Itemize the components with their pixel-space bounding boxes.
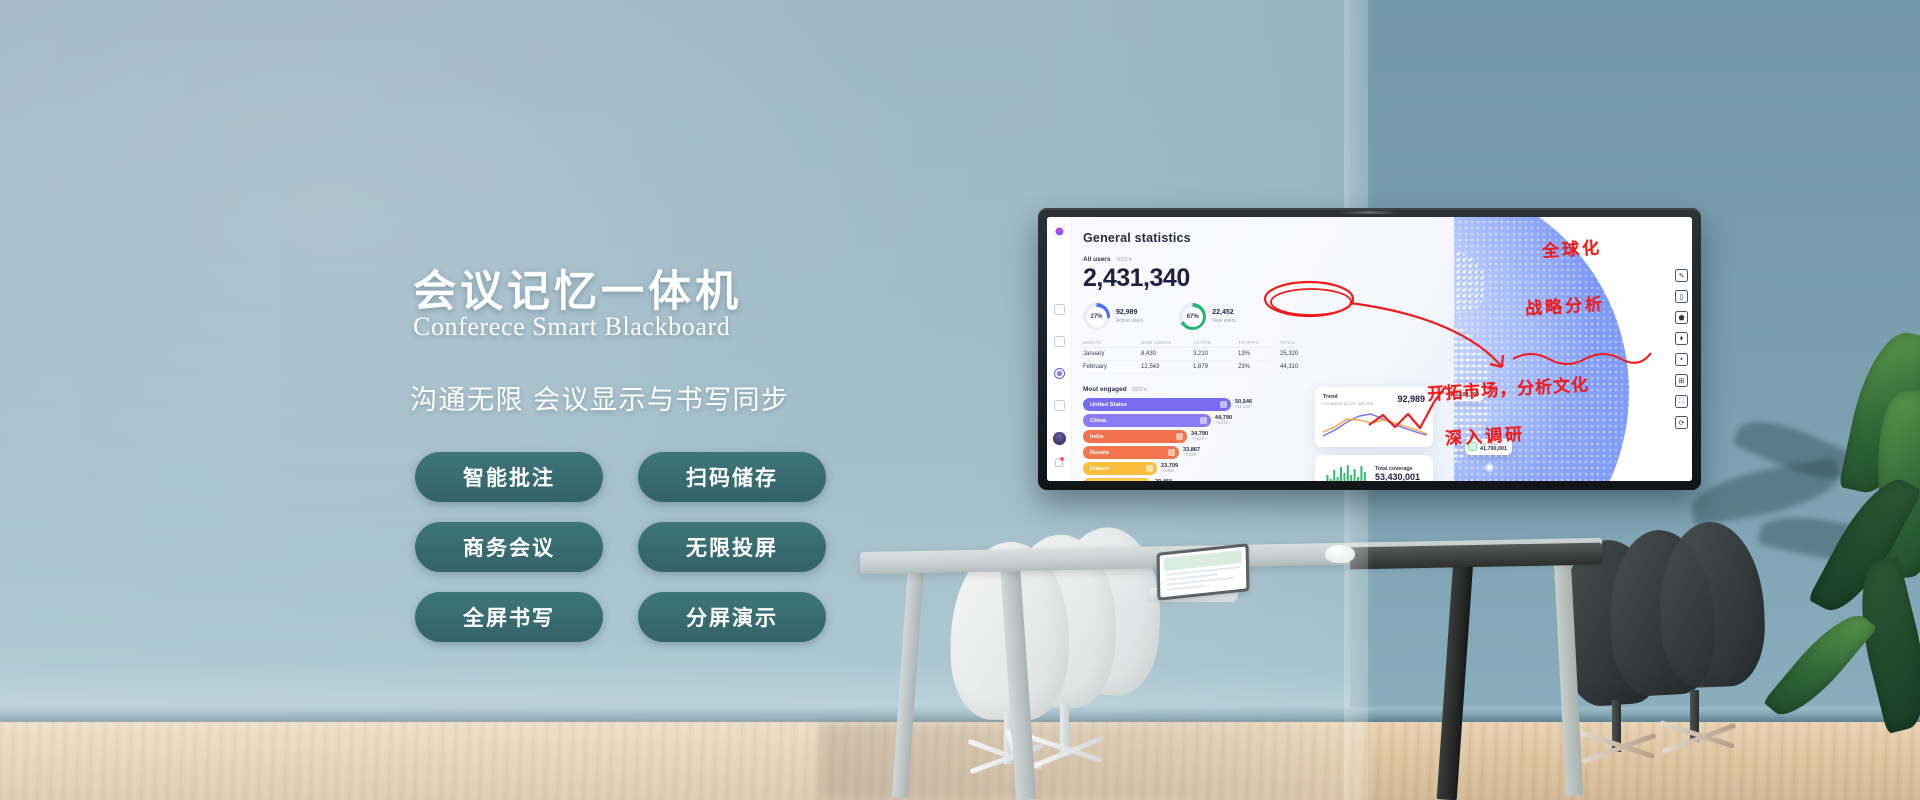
cell: 23% bbox=[1238, 364, 1280, 370]
card-value: 92,989 bbox=[1397, 394, 1425, 404]
sidebar-item-billing-icon[interactable] bbox=[1054, 400, 1065, 411]
flag-icon bbox=[1168, 449, 1175, 456]
column-header: MONTH bbox=[1083, 340, 1141, 345]
donut-stats: 27% 92,989 Active users 67% 22,452 bbox=[1083, 303, 1446, 330]
donut-percent: 27% bbox=[1090, 314, 1102, 320]
sidebar-item-analytics-icon[interactable] bbox=[1054, 336, 1065, 347]
stat-label: New users bbox=[1212, 318, 1236, 324]
page-title: 会议记忆一体机 bbox=[413, 257, 742, 319]
country-label: India bbox=[1090, 434, 1104, 440]
eraser-tool-icon[interactable]: ▯ bbox=[1675, 290, 1688, 303]
page-title: General statistics bbox=[1083, 231, 1446, 245]
country-label: United States bbox=[1090, 402, 1127, 408]
country-delta: +7,820 bbox=[1191, 437, 1208, 442]
column-header: ACTIVE bbox=[1193, 340, 1238, 345]
annotation-deep-research: 深入调研 bbox=[1444, 420, 1525, 450]
lock-tool-icon[interactable]: ▪ bbox=[1675, 353, 1688, 366]
cell: 8,430 bbox=[1141, 351, 1193, 357]
display-screen[interactable]: Toronto 53,430,001 Washington 52,320,300… bbox=[1047, 217, 1692, 481]
card-title: Trend bbox=[1323, 394, 1374, 400]
feature-pill-business-meeting[interactable]: 商务会议 bbox=[415, 522, 603, 572]
display-camera-strip bbox=[1340, 211, 1400, 214]
cell: January bbox=[1083, 351, 1141, 357]
most-engaged-period-select[interactable]: 2023 ▾ bbox=[1132, 387, 1147, 393]
hero-tagline: 沟通无限 会议显示与书写同步 bbox=[410, 378, 790, 417]
shape-tool-icon[interactable]: ⬟ bbox=[1675, 311, 1688, 324]
board-toolbar[interactable]: ✎▯⬟⬧▪⊞⛶⟳ bbox=[1675, 269, 1688, 429]
donut-chart-active: 27% bbox=[1083, 303, 1110, 330]
flag-icon bbox=[1220, 401, 1227, 408]
annotation-strategy-analysis: 战略分析 bbox=[1524, 290, 1605, 320]
stat-value: 22,452 bbox=[1212, 309, 1236, 318]
cell: 1,879 bbox=[1193, 364, 1238, 370]
all-users-label: All users bbox=[1083, 256, 1110, 263]
select-tool-icon[interactable]: ⬧ bbox=[1675, 332, 1688, 345]
trend-line-chart bbox=[1323, 410, 1427, 440]
column-header: NEW USERS bbox=[1141, 340, 1193, 345]
feature-pill-smart-annotation[interactable]: 智能批注 bbox=[415, 452, 603, 502]
feature-pill-split-presentation[interactable]: 分屏演示 bbox=[638, 592, 826, 642]
country-delta: +9,210 bbox=[1215, 421, 1232, 426]
save-tool-icon[interactable]: ⊞ bbox=[1675, 374, 1688, 387]
card-subtitle: Compared to 12% last year bbox=[1323, 401, 1374, 406]
months-table: MONTH NEW USERS ACTIVE TRAFFIC TOTAL Jan… bbox=[1083, 340, 1328, 374]
country-delta: +11,230 bbox=[1235, 405, 1252, 410]
sidebar-item-globe-icon[interactable] bbox=[1054, 368, 1065, 379]
feature-pill-fullscreen-writing[interactable]: 全屏书写 bbox=[415, 592, 603, 642]
floor-shadow bbox=[820, 722, 1580, 800]
card-value: 53,430,001 bbox=[1375, 472, 1420, 481]
hero-copy: 会议记忆一体机 Conferece Smart Blackboard 沟通无限 … bbox=[0, 0, 900, 800]
cup bbox=[1325, 545, 1355, 563]
stat-active-users: 27% 92,989 Active users bbox=[1083, 303, 1143, 330]
most-engaged-title: Most engaged bbox=[1083, 386, 1127, 393]
app-logo-icon bbox=[1053, 225, 1066, 238]
stat-label: Active users bbox=[1116, 318, 1143, 324]
page-subtitle: Conferece Smart Blackboard bbox=[413, 312, 730, 342]
donut-percent: 67% bbox=[1187, 314, 1199, 320]
cell: 12,543 bbox=[1141, 364, 1193, 370]
stat-value: 92,989 bbox=[1116, 309, 1143, 318]
total-coverage-card[interactable]: Total coverage 53,430,001 Compared to 50… bbox=[1315, 455, 1433, 481]
country-value: 20,460 bbox=[1155, 479, 1172, 481]
dashboard-panel: General statistics All users 2023 ▾ 2,43… bbox=[1047, 217, 1454, 481]
country-label: France bbox=[1090, 466, 1109, 472]
all-users-value: 2,431,340 bbox=[1083, 264, 1446, 293]
table-row: January 8,430 3,210 13% 25,320 bbox=[1083, 348, 1328, 361]
country-label: Russia bbox=[1090, 450, 1109, 456]
pen-tool-icon[interactable]: ✎ bbox=[1675, 269, 1688, 282]
table-header-row: MONTH NEW USERS ACTIVE TRAFFIC TOTAL bbox=[1083, 340, 1328, 348]
table-row: February 12,543 1,879 23% 44,310 bbox=[1083, 361, 1328, 374]
feature-pill-grid: 智能批注 扫码储存 商务会议 无限投屏 全屏书写 分屏演示 bbox=[415, 452, 855, 662]
trend-card[interactable]: Trend Compared to 12% last year 92,989 bbox=[1315, 387, 1433, 447]
avatar[interactable] bbox=[1053, 432, 1066, 445]
smart-blackboard-display[interactable]: Toronto 53,430,001 Washington 52,320,300… bbox=[1038, 208, 1701, 490]
flag-icon bbox=[1176, 433, 1183, 440]
dashboard-sidebar[interactable] bbox=[1047, 217, 1072, 481]
feature-pill-unlimited-casting[interactable]: 无限投屏 bbox=[638, 522, 826, 572]
fullscreen-tool-icon[interactable]: ⛶ bbox=[1675, 395, 1688, 408]
cell: February bbox=[1083, 364, 1141, 370]
flag-icon bbox=[1200, 417, 1207, 424]
country-delta: +6,200 bbox=[1183, 453, 1200, 458]
column-header: TRAFFIC bbox=[1238, 340, 1280, 345]
cell: 44,310 bbox=[1280, 364, 1324, 370]
sidebar-item-dashboard-icon[interactable] bbox=[1054, 304, 1065, 315]
donut-chart-new: 67% bbox=[1179, 303, 1206, 330]
all-users-period-select[interactable]: 2023 ▾ bbox=[1116, 257, 1131, 263]
cell: 13% bbox=[1238, 351, 1280, 357]
share-tool-icon[interactable]: ⟳ bbox=[1675, 416, 1688, 429]
country-label: China bbox=[1090, 418, 1106, 424]
annotation-globalization: 全球化 bbox=[1541, 233, 1602, 262]
cell: 25,320 bbox=[1280, 351, 1324, 357]
country-delta: +4,900 bbox=[1161, 469, 1178, 474]
feature-pill-qr-save[interactable]: 扫码储存 bbox=[638, 452, 826, 502]
cell: 3,210 bbox=[1193, 351, 1238, 357]
table-tablet bbox=[1157, 543, 1250, 601]
map-pin-dot bbox=[1487, 465, 1492, 470]
column-header: TOTAL bbox=[1280, 340, 1324, 345]
stat-new-users: 67% 22,452 New users bbox=[1179, 303, 1236, 330]
notification-bell-icon[interactable] bbox=[1055, 458, 1063, 467]
coverage-bar-chart bbox=[1323, 462, 1367, 481]
flag-icon bbox=[1146, 465, 1153, 472]
